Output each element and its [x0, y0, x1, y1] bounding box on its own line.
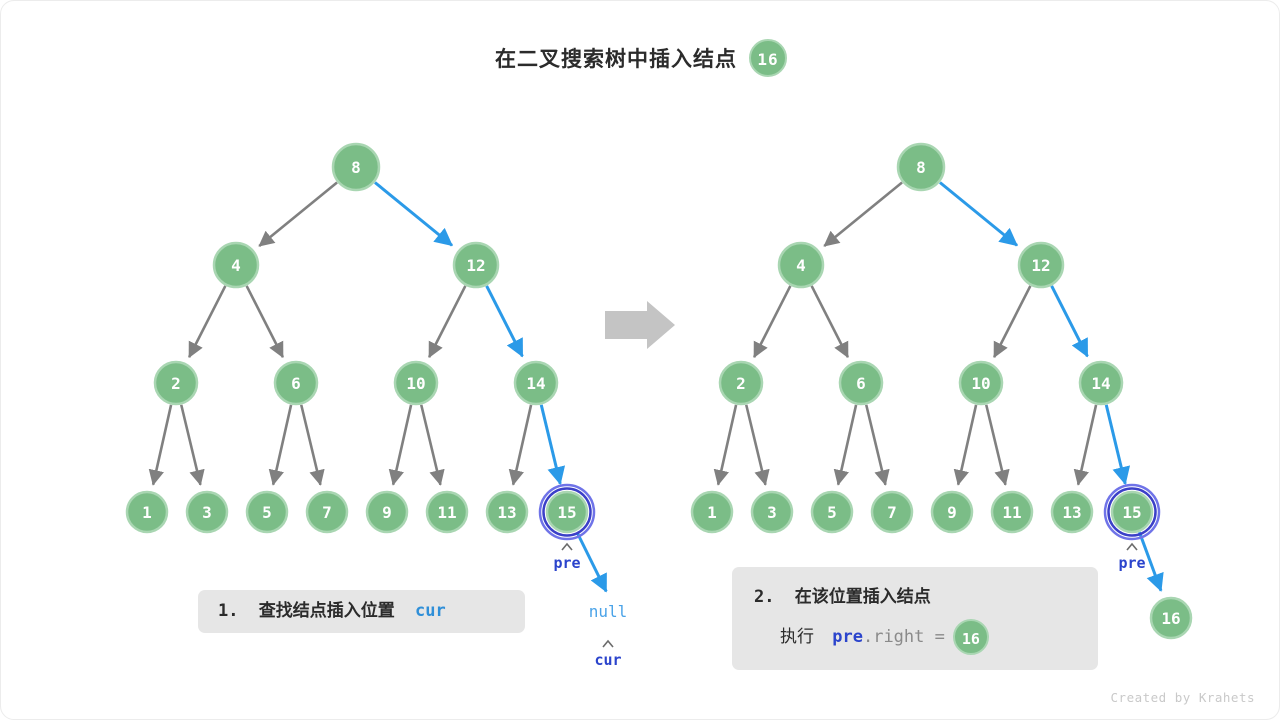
- left-node-10: 10: [395, 362, 437, 404]
- node-value: 1: [707, 503, 717, 522]
- node-value: 10: [971, 374, 990, 393]
- tree-edge-12-to-14: [1052, 286, 1088, 356]
- right-arrow-icon: [605, 301, 675, 349]
- pointer-caret-pre: [1127, 544, 1137, 550]
- right-node-2: 2: [720, 362, 762, 404]
- left-node-7: 7: [307, 492, 347, 532]
- node-value: 9: [947, 503, 957, 522]
- left-node-15: 15: [540, 485, 594, 539]
- right-node-1: 1: [692, 492, 732, 532]
- node-value: 7: [887, 503, 897, 522]
- node-value: 4: [796, 256, 806, 275]
- tree-edge-2-to-1: [718, 405, 736, 485]
- node-value: 4: [231, 256, 241, 275]
- left-node-4: 4: [214, 243, 258, 287]
- tree-edge-10-to-9: [393, 405, 411, 485]
- caption1-step: 1.: [218, 601, 238, 621]
- credit-text: Created by Krahets: [1111, 690, 1255, 705]
- tree-edge-4-to-2: [189, 286, 225, 357]
- tree-edge-14-to-13: [513, 405, 531, 485]
- pointer-label-cur: cur: [594, 651, 621, 669]
- node-value: 12: [466, 256, 485, 275]
- node-value: 5: [827, 503, 837, 522]
- tree-edge-6-to-7: [866, 405, 885, 485]
- left-node-1: 1: [127, 492, 167, 532]
- node-value: 14: [1091, 374, 1110, 393]
- tree-edge-4-to-6: [812, 286, 848, 357]
- edge-to-null: [577, 533, 606, 592]
- tree-edge-12-to-10: [994, 286, 1030, 357]
- node-value: 10: [406, 374, 425, 393]
- left-node-5: 5: [247, 492, 287, 532]
- right-node-14: 14: [1080, 362, 1122, 404]
- tree-edge-10-to-9: [958, 405, 976, 485]
- pointer-label-pre: pre: [1118, 554, 1145, 572]
- node-value: 2: [736, 374, 746, 393]
- tree-edge-6-to-5: [273, 405, 291, 485]
- caption2-code-tail: .right =: [863, 627, 945, 647]
- pointer-label-pre: pre: [553, 554, 580, 572]
- tree-edge-14-to-15: [541, 405, 560, 484]
- node-value: 13: [1062, 503, 1081, 522]
- tree-edge-8-to-12: [940, 182, 1017, 245]
- right-node-7: 7: [872, 492, 912, 532]
- node-value: 1: [142, 503, 152, 522]
- diagram-card: 在二叉搜索树中插入结点16 null841226101413579111315p…: [0, 0, 1280, 720]
- tree-edge-6-to-5: [838, 405, 856, 485]
- tree-edge-2-to-3: [181, 405, 200, 485]
- caption1-text: 查找结点插入位置: [259, 601, 395, 621]
- node-value: 11: [1002, 503, 1021, 522]
- tree-edge-14-to-15: [1106, 405, 1125, 484]
- right-node-13: 13: [1052, 492, 1092, 532]
- caption-step-2: 2. 在该位置插入结点 执行 pre.right =16: [732, 567, 1098, 670]
- node-value: 12: [1031, 256, 1050, 275]
- right-node-3: 3: [752, 492, 792, 532]
- left-node-8: 8: [333, 144, 379, 190]
- transition-arrow: [605, 301, 675, 349]
- node-value: 8: [916, 158, 926, 177]
- caption2-exec-label: 执行: [780, 627, 814, 647]
- tree-edge-8-to-12: [375, 182, 452, 245]
- node-value: 3: [202, 503, 212, 522]
- caption-step-1: 1. 查找结点插入位置 cur: [198, 590, 525, 633]
- node-value: 9: [382, 503, 392, 522]
- node-value: 6: [856, 374, 866, 393]
- right-node-6: 6: [840, 362, 882, 404]
- right-node-5: 5: [812, 492, 852, 532]
- node-value: 11: [437, 503, 456, 522]
- right-node-12: 12: [1019, 243, 1063, 287]
- tree-edge-6-to-7: [301, 405, 320, 485]
- null-label: null: [589, 602, 628, 621]
- tree-edge-2-to-1: [153, 405, 171, 485]
- tree-edge-10-to-11: [986, 405, 1005, 485]
- tree-edge-10-to-11: [421, 405, 440, 485]
- tree-edge-4-to-6: [247, 286, 283, 357]
- left-node-9: 9: [367, 492, 407, 532]
- node-value: 15: [557, 503, 576, 522]
- left-node-11: 11: [427, 492, 467, 532]
- right-node-8: 8: [898, 144, 944, 190]
- right-node-4: 4: [779, 243, 823, 287]
- node-value: 6: [291, 374, 301, 393]
- left-node-14: 14: [515, 362, 557, 404]
- right-node-15: 15: [1105, 485, 1159, 539]
- node-value: 8: [351, 158, 361, 177]
- caption2-keyword-pre: pre: [832, 627, 863, 647]
- tree-edge-4-to-2: [754, 286, 790, 357]
- tree-edge-12-to-14: [487, 286, 523, 356]
- tree-edge-8-to-4: [824, 182, 902, 246]
- left-node-2: 2: [155, 362, 197, 404]
- caption2-step: 2.: [754, 587, 774, 607]
- left-node-6: 6: [275, 362, 317, 404]
- tree-edge-14-to-13: [1078, 405, 1096, 485]
- node-value: 13: [497, 503, 516, 522]
- caption1-keyword-cur: cur: [415, 601, 446, 621]
- left-node-13: 13: [487, 492, 527, 532]
- caption2-text: 在该位置插入结点: [795, 587, 931, 607]
- left-node-12: 12: [454, 243, 498, 287]
- pointer-caret-cur: [603, 641, 613, 647]
- node-value: 7: [322, 503, 332, 522]
- caption2-node-16: 16: [953, 619, 989, 655]
- tree-edge-2-to-3: [746, 405, 765, 485]
- node-value: 16: [1161, 609, 1180, 628]
- right-node-11: 11: [992, 492, 1032, 532]
- tree-edge-12-to-10: [429, 286, 465, 357]
- node-value: 3: [767, 503, 777, 522]
- node-value: 14: [526, 374, 545, 393]
- node-value: 2: [171, 374, 181, 393]
- node-value: 15: [1122, 503, 1141, 522]
- right-tree: 84122610141357911131516pre: [692, 144, 1191, 638]
- node-value: 5: [262, 503, 272, 522]
- left-node-3: 3: [187, 492, 227, 532]
- right-node-16: 16: [1151, 598, 1191, 638]
- right-node-10: 10: [960, 362, 1002, 404]
- pointer-caret-pre: [562, 544, 572, 550]
- tree-edge-8-to-4: [259, 182, 337, 246]
- right-node-9: 9: [932, 492, 972, 532]
